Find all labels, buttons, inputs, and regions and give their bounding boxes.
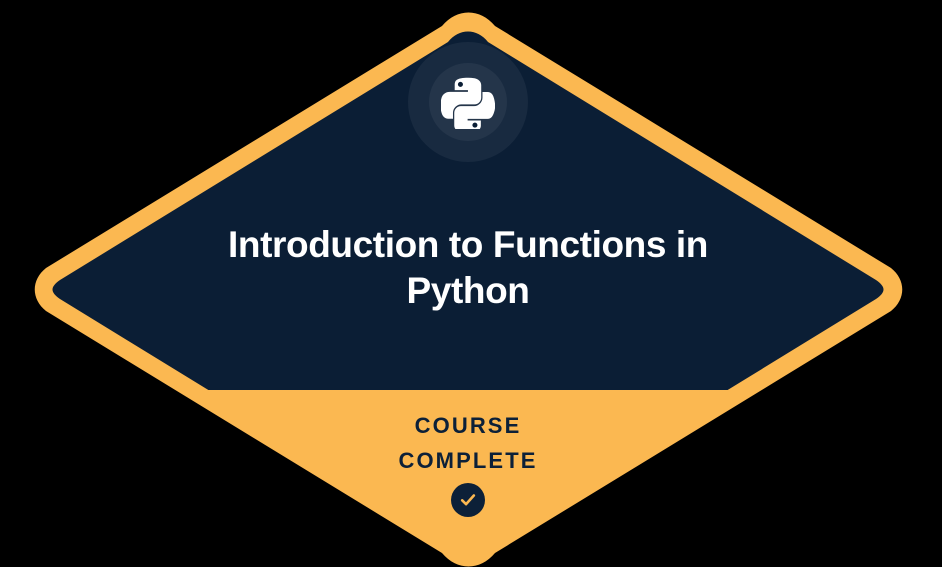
badge-canvas: Introduction to Functions in Python COUR… <box>0 0 942 567</box>
checkmark-icon <box>458 490 478 510</box>
python-logo-icon <box>408 42 528 162</box>
check-circle-icon <box>451 483 485 517</box>
python-glyph-icon <box>441 75 495 129</box>
course-title: Introduction to Functions in Python <box>171 222 765 314</box>
completion-status-label: COURSE COMPLETE <box>171 408 765 478</box>
